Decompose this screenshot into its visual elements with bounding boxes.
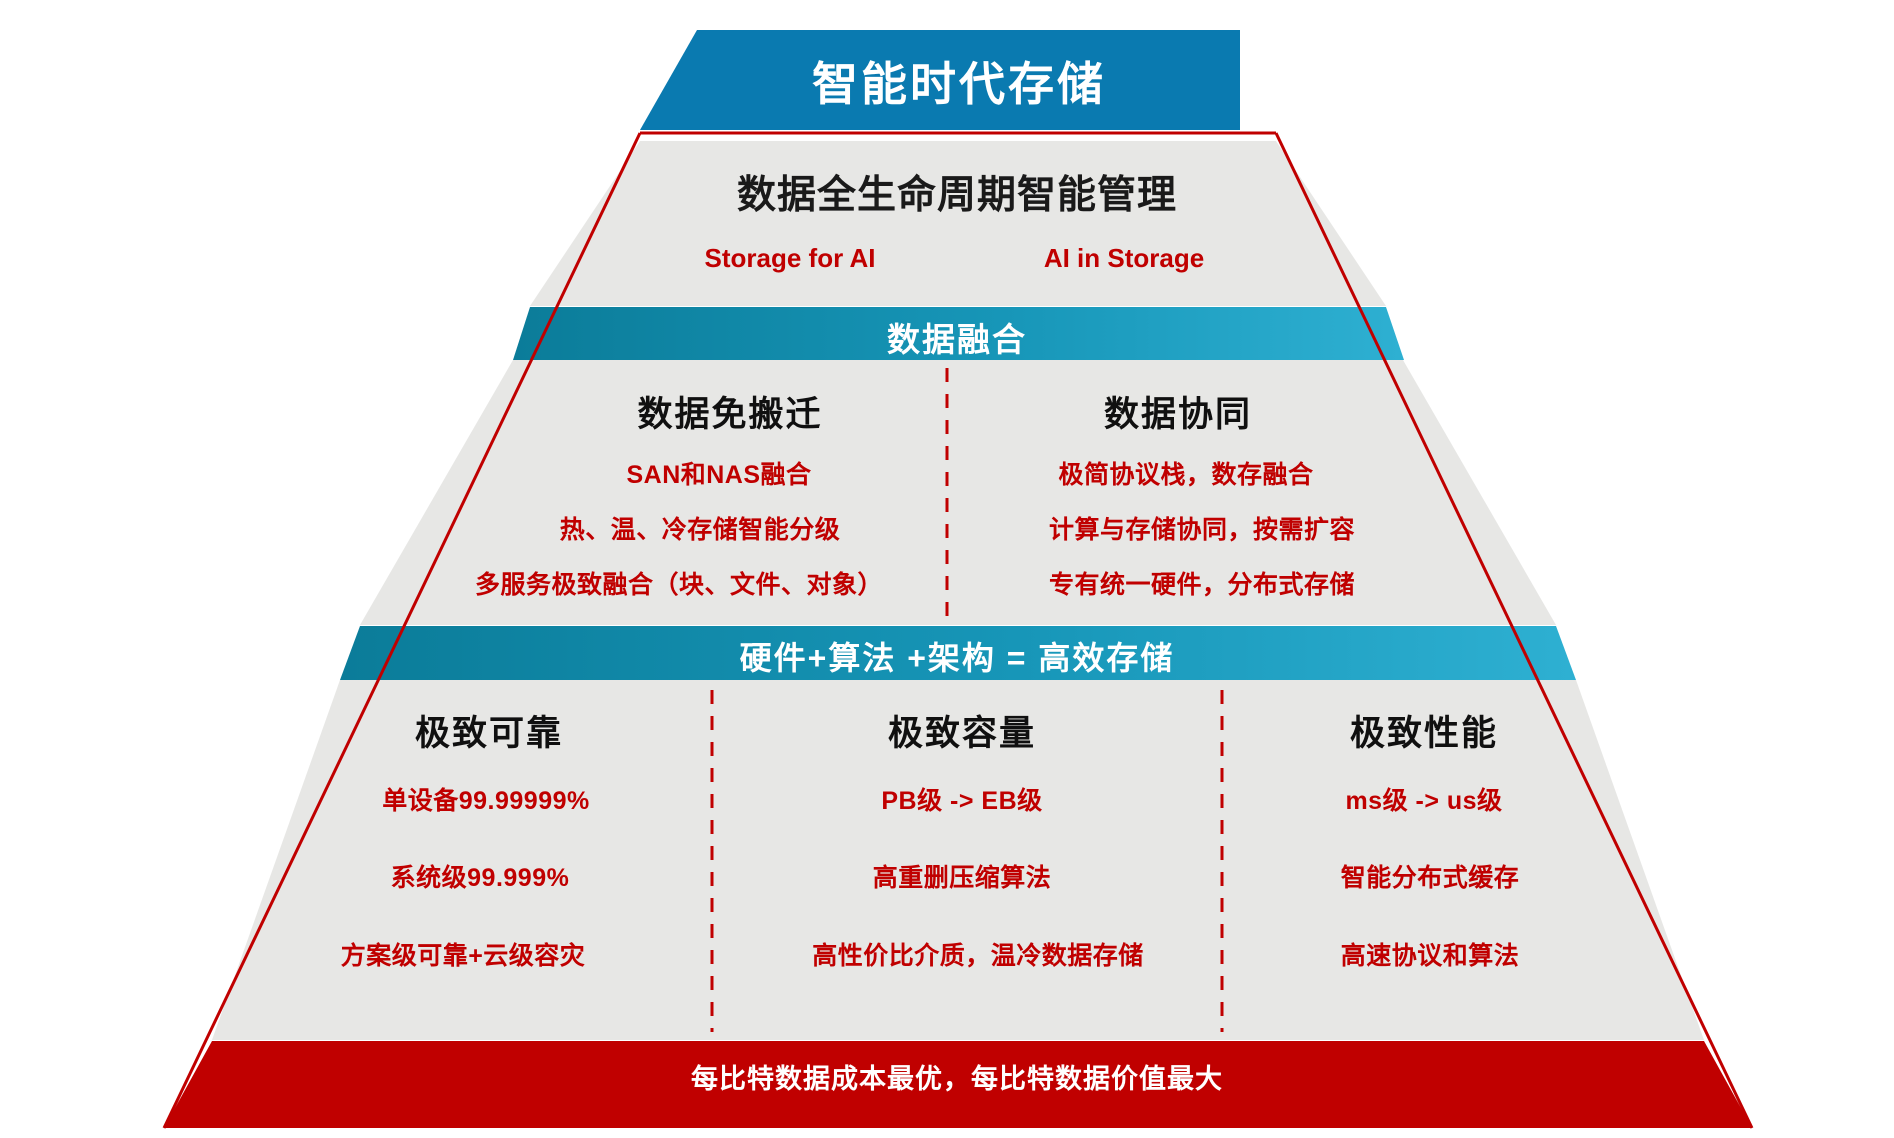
tier3-col2-bullet-1: 极简协议栈，数存融合 <box>1058 455 1313 491</box>
tier2-tag-ai-in-storage: AI in Storage <box>1044 243 1204 274</box>
tier2-tag-storage-for-ai: Storage for AI <box>705 243 876 274</box>
hardware-band-label: 硬件+算法 +架构 = 高效存储 <box>740 633 1175 679</box>
tier4-col3-bullet-3: 高速协议和算法 <box>1341 936 1520 972</box>
tier4-col2-bullet-3: 高性价比介质，温冷数据存储 <box>812 936 1144 972</box>
tier3-col1-bullet-2: 热、温、冷存储智能分级 <box>560 510 841 546</box>
tier4-col2-bullet-1: PB级 -> EB级 <box>881 781 1042 817</box>
tier3-col2-bullet-2: 计算与存储协同，按需扩容 <box>1049 510 1355 546</box>
fusion-band-label: 数据融合 <box>887 313 1027 361</box>
tier3-col1-bullet-3: 多服务极致融合（块、文件、对象） <box>475 565 883 601</box>
tier4-col1-heading: 极致可靠 <box>415 705 563 756</box>
tier4-col1-bullet-3: 方案级可靠+云级容灾 <box>341 936 586 972</box>
tier2-heading: 数据全生命周期智能管理 <box>737 164 1177 220</box>
tier3-col1-heading: 数据免搬迁 <box>637 386 822 437</box>
pyramid-diagram: 智能时代存储 数据全生命周期智能管理 Storage for AI AI in … <box>0 0 1894 1138</box>
tier4-col3-bullet-2: 智能分布式缓存 <box>1341 858 1520 894</box>
tier4-col2-bullet-2: 高重删压缩算法 <box>873 858 1052 894</box>
footer-label: 每比特数据成本最优，每比特数据价值最大 <box>691 1057 1223 1096</box>
tier4-col1-bullet-1: 单设备99.99999% <box>382 781 590 817</box>
tier4-col3-bullet-1: ms级 -> us级 <box>1345 781 1502 817</box>
tier4-col2-heading: 极致容量 <box>888 705 1036 756</box>
tier3-col2-heading: 数据协同 <box>1104 386 1252 437</box>
tier3-col1-bullet-1: SAN和NAS融合 <box>626 455 811 491</box>
apex-title: 智能时代存储 <box>812 48 1106 114</box>
tier4-col3-heading: 极致性能 <box>1350 705 1498 756</box>
tier3-col2-bullet-3: 专有统一硬件，分布式存储 <box>1049 565 1355 601</box>
tier4-col1-bullet-2: 系统级99.999% <box>391 858 570 894</box>
